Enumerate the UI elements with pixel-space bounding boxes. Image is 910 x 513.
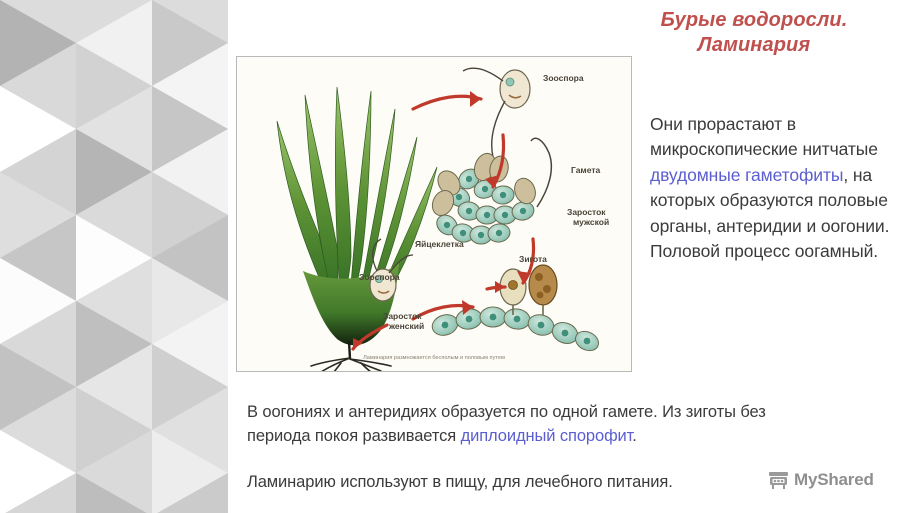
label-zoospore-bottom: Зооспора [359,272,400,282]
laminaria-life-cycle-figure: Зооспора Гамета Заросток мужской Яйцекле… [236,56,632,372]
label-zygote: Зигота [519,254,547,264]
projector-icon [768,471,789,490]
label-gamete: Гамета [571,165,600,175]
presentation-slide: Бурые водоросли. Ламинария Они прорастаю… [0,0,910,513]
label-male-gametophyte-line1: Заросток [567,207,606,217]
bottom-paragraph-1: В оогониях и антеридиях образуется по од… [247,400,787,448]
bottom-p1-part-2: . [632,427,636,445]
slide-title-line-2: Ламинария [608,33,900,58]
bottom-paragraph-2: Ламинарию используют в пищу, для лечебно… [247,470,767,494]
label-male-gametophyte-line2: мужской [573,217,609,227]
right-paragraph-part-1: Они прорастают в микроскопические нитчат… [650,114,878,159]
slide-title-line-1: Бурые водоросли. [661,9,848,31]
label-egg-cell: Яйцеклетка [415,239,464,249]
bottom-p1-highlight: диплоидный спорофит [461,427,633,445]
figure-caption: Ламинария размножается бесполым и половы… [363,355,505,361]
decorative-triangle-pattern [0,0,228,513]
label-female-gametophyte-line1: Заросток [383,311,422,321]
watermark-label: MyShared [794,470,874,490]
label-zoospore-top: Зооспора [543,73,584,83]
right-paragraph-highlight: двудомные гаметофиты [650,165,843,185]
label-female-gametophyte-line2: женский [388,321,424,331]
slide-title: Бурые водоросли. Ламинария [608,8,900,58]
myshared-watermark: MyShared [768,470,874,490]
right-body-paragraph: Они прорастают в микроскопические нитчат… [650,112,908,264]
